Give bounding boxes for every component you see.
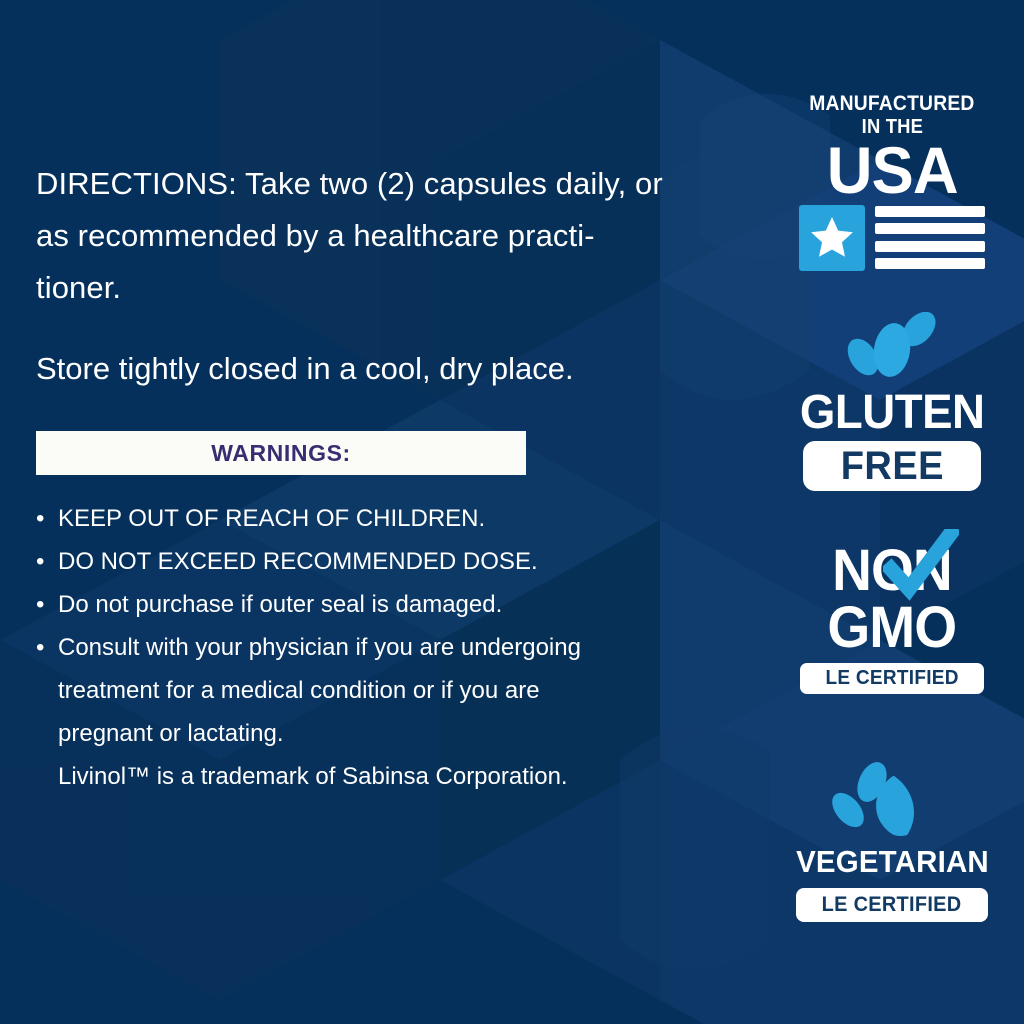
directions-block: DIRECTIONS: Take two (2) capsules daily,… bbox=[36, 158, 742, 314]
non-gmo-line-2: GMO bbox=[828, 599, 957, 657]
gluten-badge-word: GLUTEN bbox=[800, 388, 985, 438]
warning-text: pregnant or lactating. bbox=[58, 712, 736, 755]
bullet-glyph: • bbox=[36, 540, 44, 583]
label-text-column: DIRECTIONS: Take two (2) capsules daily,… bbox=[36, 0, 736, 1024]
warning-text: DO NOT EXCEED RECOMMENDED DOSE. bbox=[58, 540, 736, 583]
warnings-list: • KEEP OUT OF REACH OF CHILDREN. • DO NO… bbox=[36, 497, 736, 798]
wheat-grain-icon bbox=[834, 312, 950, 382]
usa-flag-icon bbox=[799, 205, 985, 271]
vegetarian-badge-word: VEGETARIAN bbox=[796, 844, 989, 880]
certification-badge-column: MANUFACTURED IN THE USA GLUTEN FREE bbox=[760, 0, 1024, 1024]
checkmark-icon bbox=[883, 529, 959, 603]
list-item: Livinol™ is a trademark of Sabinsa Corpo… bbox=[36, 755, 736, 798]
warning-text: Consult with your physician if you are u… bbox=[58, 626, 736, 669]
warning-text: KEEP OUT OF REACH OF CHILDREN. bbox=[58, 497, 736, 540]
warning-text: Do not purchase if outer seal is damaged… bbox=[58, 583, 736, 626]
non-gmo-badge: NON GMO LE CERTIFIED bbox=[760, 543, 1024, 694]
vegetarian-certified-pill-text: LE CERTIFIED bbox=[822, 893, 962, 917]
list-item: • DO NOT EXCEED RECOMMENDED DOSE. bbox=[36, 540, 736, 583]
storage-instructions-block: Store tightly closed in a cool, dry plac… bbox=[36, 349, 742, 389]
directions-line-2: as recommended by a healthcare practi- bbox=[36, 210, 742, 262]
gluten-free-pill-text: FREE bbox=[840, 444, 943, 489]
warnings-heading-label: WARNINGS: bbox=[211, 440, 351, 467]
usa-badge-line-1: MANUFACTURED bbox=[809, 92, 974, 116]
bullet-glyph: • bbox=[36, 626, 44, 669]
list-item: • KEEP OUT OF REACH OF CHILDREN. bbox=[36, 497, 736, 540]
list-item: • Consult with your physician if you are… bbox=[36, 626, 736, 755]
bullet-glyph: • bbox=[36, 583, 44, 626]
list-item: • Do not purchase if outer seal is damag… bbox=[36, 583, 736, 626]
directions-line-1: DIRECTIONS: Take two (2) capsules daily,… bbox=[36, 158, 742, 210]
storage-instructions-text: Store tightly closed in a cool, dry plac… bbox=[36, 349, 742, 389]
leaf-icon bbox=[817, 760, 967, 838]
usa-badge-line-3: USA bbox=[827, 139, 958, 201]
vegetarian-badge: VEGETARIAN LE CERTIFIED bbox=[760, 760, 1024, 922]
directions-line-3: tioner. bbox=[36, 262, 742, 314]
trademark-notice: Livinol™ is a trademark of Sabinsa Corpo… bbox=[58, 755, 736, 798]
manufactured-in-usa-badge: MANUFACTURED IN THE USA bbox=[760, 92, 1024, 271]
gluten-free-pill: FREE bbox=[803, 441, 981, 491]
gluten-free-badge: GLUTEN FREE bbox=[760, 312, 1024, 491]
bullet-glyph: • bbox=[36, 497, 44, 540]
non-gmo-certified-pill: LE CERTIFIED bbox=[800, 663, 984, 694]
warnings-heading-bar: WARNINGS: bbox=[36, 431, 526, 475]
supplement-label-panel: DIRECTIONS: Take two (2) capsules daily,… bbox=[0, 0, 1024, 1024]
vegetarian-certified-pill: LE CERTIFIED bbox=[796, 888, 988, 922]
non-gmo-certified-pill-text: LE CERTIFIED bbox=[825, 667, 958, 690]
warning-text: treatment for a medical condition or if … bbox=[58, 669, 736, 712]
